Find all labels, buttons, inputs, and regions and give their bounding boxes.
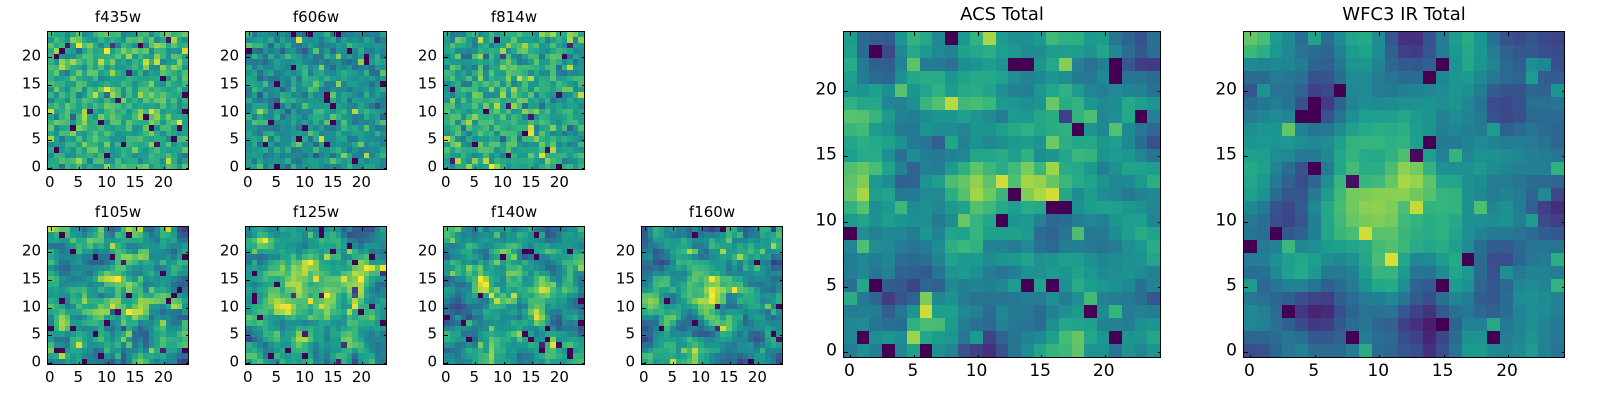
y-tick-mark-right	[1562, 287, 1565, 288]
x-tick-mark-top	[1315, 32, 1316, 36]
y-tick-mark	[1244, 91, 1248, 92]
x-tick-mark-top	[1250, 32, 1251, 36]
x-tick-mark	[1379, 355, 1380, 358]
y-tick-label: 10	[1197, 212, 1237, 229]
wfc3-ir-total-panel: WFC3 IR Total0510152005101520	[0, 0, 1600, 400]
x-tick-mark-top	[1444, 32, 1445, 36]
x-tick-label: 20	[1496, 363, 1518, 380]
y-tick-mark-right	[1562, 222, 1565, 223]
heatmap-image	[1244, 32, 1564, 357]
y-tick-label: 15	[1197, 147, 1237, 164]
y-tick-mark-right	[1562, 156, 1565, 157]
y-tick-mark	[1244, 352, 1248, 353]
y-tick-mark	[1244, 287, 1248, 288]
figure-canvas: f435w0510152005101520f606w05101520051015…	[0, 0, 1600, 400]
y-tick-label: 5	[1197, 278, 1237, 295]
y-tick-mark-right	[1562, 352, 1565, 353]
y-tick-mark	[1244, 156, 1248, 157]
x-tick-mark-top	[1508, 32, 1509, 36]
y-tick-mark	[1244, 222, 1248, 223]
panel-title: WFC3 IR Total	[1243, 6, 1565, 24]
x-tick-label: 0	[1244, 363, 1255, 380]
y-tick-label: 0	[1197, 343, 1237, 360]
x-tick-mark	[1508, 355, 1509, 358]
x-tick-label: 5	[1308, 363, 1319, 380]
heatmap-axes	[1243, 31, 1565, 358]
x-tick-label: 10	[1367, 363, 1389, 380]
x-tick-mark	[1250, 355, 1251, 358]
x-tick-label: 15	[1432, 363, 1454, 380]
x-tick-mark	[1315, 355, 1316, 358]
x-tick-mark-top	[1379, 32, 1380, 36]
x-tick-mark	[1444, 355, 1445, 358]
y-tick-label: 20	[1197, 81, 1237, 98]
y-tick-mark-right	[1562, 91, 1565, 92]
